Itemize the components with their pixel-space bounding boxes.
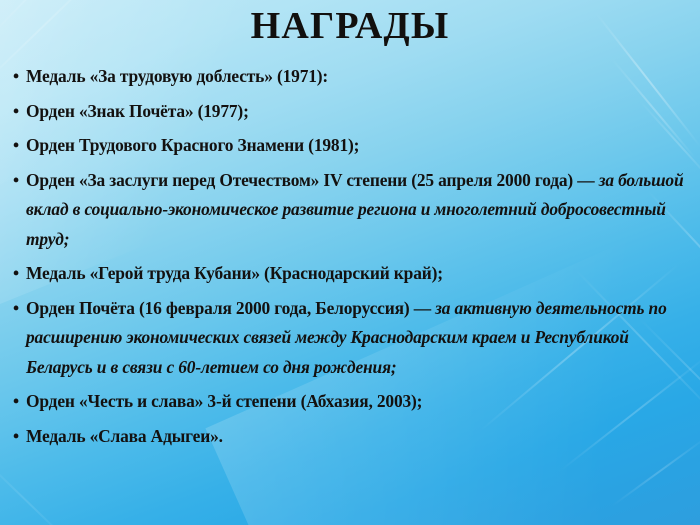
bullet-glyph: • (13, 166, 19, 196)
list-item-text: Орден «Знак Почёта» (1977); (26, 101, 249, 121)
bullet-glyph: • (13, 131, 19, 161)
bullet-glyph: • (13, 62, 19, 92)
bullet-glyph: • (13, 97, 19, 127)
list-item-text: Орден «Честь и слава» 3-й степени (Абхаз… (26, 391, 422, 411)
list-item: • Орден «Честь и слава» 3-й степени (Абх… (13, 387, 691, 417)
bullet-glyph: • (13, 387, 19, 417)
list-item: • Медаль «Герой труда Кубани» (Краснодар… (13, 259, 691, 289)
list-item: • Орден Трудового Красного Знамени (1981… (13, 131, 691, 161)
list-item-text: Орден Почёта (16 февраля 2000 года, Бело… (26, 298, 435, 318)
awards-bullet-list: • Медаль «За трудовую доблесть» (1971): … (13, 62, 691, 456)
list-item-text: Медаль «За трудовую доблесть» (1971): (26, 66, 328, 86)
list-item: • Медаль «За трудовую доблесть» (1971): (13, 62, 691, 92)
list-item-text: Медаль «Герой труда Кубани» (Краснодарск… (26, 263, 443, 283)
bullet-glyph: • (13, 422, 19, 452)
list-item: • Орден «Знак Почёта» (1977); (13, 97, 691, 127)
bullet-glyph: • (13, 294, 19, 324)
list-item: • Орден «За заслуги перед Отечеством» IV… (13, 166, 691, 255)
slide-title: НАГРАДЫ (0, 6, 700, 48)
presentation-slide: НАГРАДЫ • Медаль «За трудовую доблесть» … (0, 0, 700, 525)
list-item: • Медаль «Слава Адыгеи». (13, 422, 691, 452)
list-item-text: Орден Трудового Красного Знамени (1981); (26, 135, 359, 155)
list-item-text: Орден «За заслуги перед Отечеством» IV с… (26, 170, 599, 190)
list-item: • Орден Почёта (16 февраля 2000 года, Бе… (13, 294, 691, 383)
bullet-glyph: • (13, 259, 19, 289)
list-item-text: Медаль «Слава Адыгеи». (26, 426, 223, 446)
